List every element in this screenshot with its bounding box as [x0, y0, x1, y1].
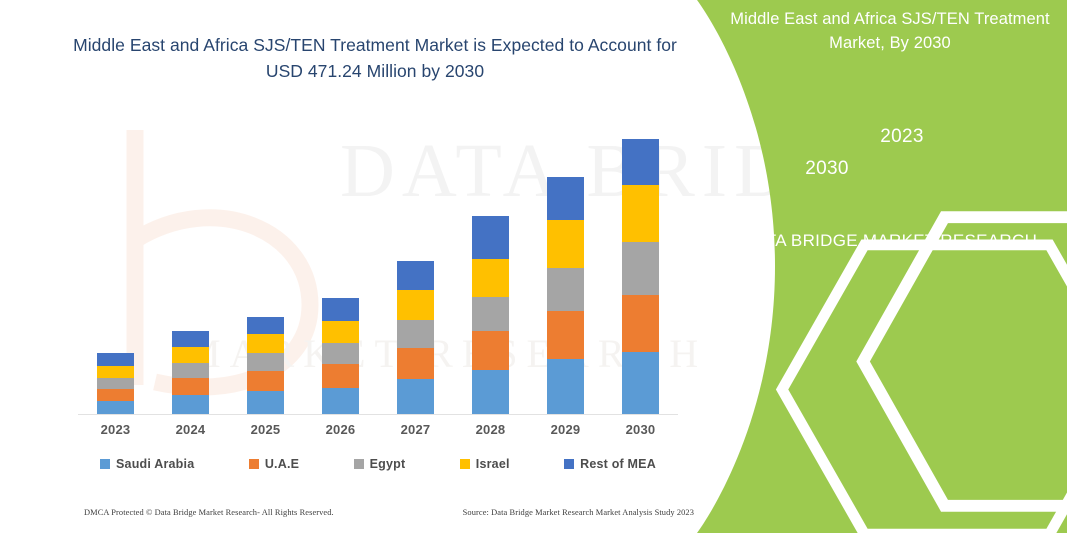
bar-segment-saudi-arabia [472, 370, 509, 414]
x-axis-label-2025: 2025 [228, 422, 303, 442]
stacked-bar [547, 177, 584, 414]
stacked-bar [472, 216, 509, 414]
bar-segment-egypt [397, 320, 434, 348]
bar-segment-saudi-arabia [397, 379, 434, 414]
legend-swatch-icon [100, 459, 110, 469]
legend-swatch-icon [460, 459, 470, 469]
bar-segment-rest-of-mea [472, 216, 509, 259]
legend-item-saudi-arabia[interactable]: Saudi Arabia [100, 457, 194, 471]
legend-item-u-a-e[interactable]: U.A.E [249, 457, 299, 471]
brand-name: DATA BRIDGE MARKET RESEARCH [717, 228, 1063, 254]
bar-segment-rest-of-mea [397, 261, 434, 290]
bar-segment-u-a-e [322, 364, 359, 388]
legend-label: Saudi Arabia [116, 457, 194, 471]
panel-title: Middle East and Africa SJS/TEN Treatment… [725, 8, 1055, 56]
x-axis-line [78, 414, 678, 415]
bar-segment-u-a-e [97, 389, 134, 401]
bar-column-2025 [228, 114, 303, 414]
legend-item-rest-of-mea[interactable]: Rest of MEA [564, 457, 656, 471]
footer-copyright: DMCA Protected © Data Bridge Market Rese… [84, 508, 334, 517]
legend-label: U.A.E [265, 457, 299, 471]
footer: DMCA Protected © Data Bridge Market Rese… [84, 508, 694, 517]
legend-label: Egypt [370, 457, 406, 471]
bar-segment-u-a-e [172, 378, 209, 395]
bar-segment-saudi-arabia [172, 395, 209, 414]
page-title: Middle East and Africa SJS/TEN Treatment… [60, 32, 690, 85]
bar-segment-u-a-e [397, 348, 434, 379]
bar-segment-israel [247, 334, 284, 353]
bar-segment-rest-of-mea [247, 317, 284, 334]
bar-segment-u-a-e [622, 295, 659, 352]
bar-segment-rest-of-mea [172, 331, 209, 347]
infographic-root: DATA BRIDGE MARKET RESEARCH Middle East … [0, 0, 1067, 533]
bar-column-2029 [528, 114, 603, 414]
hexagon-2023-label: 2023 [852, 95, 952, 179]
bar-segment-saudi-arabia [322, 388, 359, 414]
chart-legend: Saudi ArabiaU.A.EEgyptIsraelRest of MEA [78, 452, 678, 476]
legend-swatch-icon [354, 459, 364, 469]
bar-column-2030 [603, 114, 678, 414]
bar-segment-egypt [472, 297, 509, 331]
legend-label: Israel [476, 457, 510, 471]
hexagon-group: 2030 2023 [727, 95, 1057, 215]
bar-segment-rest-of-mea [322, 298, 359, 321]
x-axis-label-2030: 2030 [603, 422, 678, 442]
bar-column-2023 [78, 114, 153, 414]
stacked-bar [322, 298, 359, 414]
stacked-bar [247, 317, 284, 414]
bar-segment-egypt [172, 363, 209, 378]
bar-segment-rest-of-mea [547, 177, 584, 220]
x-axis-label-2028: 2028 [453, 422, 528, 442]
bar-segment-saudi-arabia [247, 391, 284, 414]
stacked-bar [172, 331, 209, 414]
x-axis-labels: 20232024202520262027202820292030 [78, 422, 678, 442]
legend-label: Rest of MEA [580, 457, 656, 471]
bar-segment-egypt [547, 268, 584, 311]
stacked-bar [397, 261, 434, 414]
brand-panel: Middle East and Africa SJS/TEN Treatment… [697, 0, 1067, 533]
x-axis-label-2027: 2027 [378, 422, 453, 442]
hexagon-2023: 2023 [852, 95, 952, 179]
bar-column-2024 [153, 114, 228, 414]
stacked-bar [97, 353, 134, 414]
bar-column-2028 [453, 114, 528, 414]
bar-segment-saudi-arabia [622, 352, 659, 414]
legend-swatch-icon [249, 459, 259, 469]
bar-segment-israel [472, 259, 509, 297]
legend-item-israel[interactable]: Israel [460, 457, 510, 471]
legend-item-egypt[interactable]: Egypt [354, 457, 406, 471]
bar-column-2026 [303, 114, 378, 414]
bar-segment-israel [547, 220, 584, 268]
bar-series-container [78, 114, 678, 414]
footer-source: Source: Data Bridge Market Research Mark… [463, 508, 694, 517]
bar-segment-saudi-arabia [547, 359, 584, 414]
bar-segment-rest-of-mea [97, 353, 134, 366]
bar-segment-u-a-e [247, 371, 284, 391]
bar-segment-israel [97, 366, 134, 378]
bar-segment-israel [622, 185, 659, 242]
x-axis-label-2026: 2026 [303, 422, 378, 442]
x-axis-label-2024: 2024 [153, 422, 228, 442]
bar-segment-israel [172, 347, 209, 363]
bar-segment-israel [322, 321, 359, 343]
bar-column-2027 [378, 114, 453, 414]
bar-segment-egypt [322, 343, 359, 364]
bar-segment-egypt [622, 242, 659, 295]
x-axis-label-2023: 2023 [78, 422, 153, 442]
bar-segment-saudi-arabia [97, 401, 134, 414]
legend-swatch-icon [564, 459, 574, 469]
chart-plot-area [78, 110, 678, 415]
bar-segment-rest-of-mea [622, 139, 659, 185]
bar-segment-egypt [97, 378, 134, 389]
bar-segment-israel [397, 290, 434, 320]
bar-segment-u-a-e [547, 311, 584, 359]
stacked-bar [622, 139, 659, 414]
x-axis-label-2029: 2029 [528, 422, 603, 442]
bar-segment-egypt [247, 353, 284, 371]
bar-segment-u-a-e [472, 331, 509, 370]
